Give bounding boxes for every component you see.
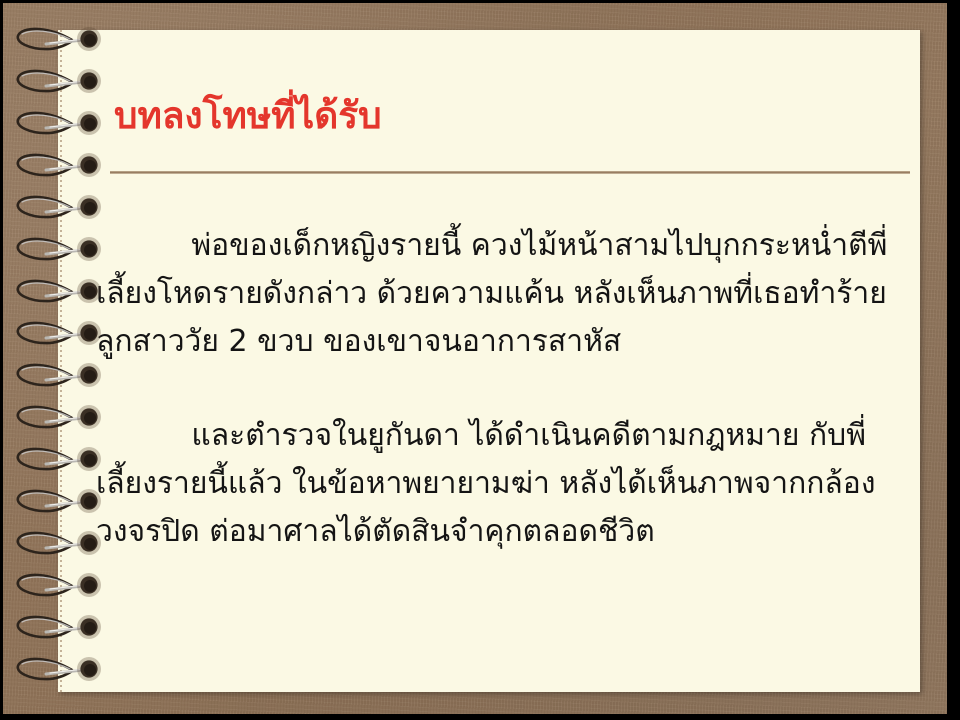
page-title: บทลงโทษที่ได้รับ — [114, 86, 382, 145]
paragraph-spacer — [96, 366, 896, 412]
body-text-block: พ่อของเด็กหญิงรายนี้ ควงไม้หน้าสามไปบุกก… — [96, 222, 896, 556]
title-divider-rule — [110, 171, 910, 174]
slide-canvas: บทลงโทษที่ได้รับ พ่อของเด็กหญิงรายนี้ คว… — [0, 0, 960, 720]
paragraph-1: พ่อของเด็กหญิงรายนี้ ควงไม้หน้าสามไปบุกก… — [96, 222, 896, 366]
paragraph-2: และตำรวจในยูกันดา ได้ดำเนินคดีตามกฎหมาย … — [96, 412, 896, 556]
notebook-page: บทลงโทษที่ได้รับ พ่อของเด็กหญิงรายนี้ คว… — [58, 30, 920, 692]
